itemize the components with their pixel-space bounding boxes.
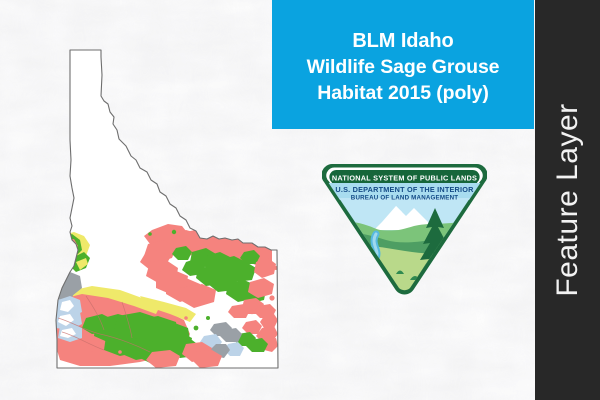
screenshot-root: BLM Idaho Wildlife Sage Grouse Habitat 2…: [0, 0, 600, 400]
seal-mid-text-line-1: U.S. DEPARTMENT OF THE INTERIOR: [335, 185, 474, 194]
feature-layer-label: Feature Layer: [551, 103, 585, 296]
blm-seal-graphic: NATIONAL SYSTEM OF PUBLIC LANDS U.S. DEP…: [322, 156, 487, 296]
feature-layer-sidebar[interactable]: Feature Layer: [535, 0, 600, 400]
banner-title-line-2: Wildlife Sage Grouse: [307, 54, 500, 80]
seal-top-text: NATIONAL SYSTEM OF PUBLIC LANDS: [332, 174, 477, 183]
blm-seal-logo: NATIONAL SYSTEM OF PUBLIC LANDS U.S. DEP…: [322, 156, 487, 296]
banner-title-line-1: BLM Idaho: [352, 28, 453, 54]
seal-mid-text-line-2: BUREAU OF LAND MANAGEMENT: [351, 195, 458, 202]
title-banner: BLM Idaho Wildlife Sage Grouse Habitat 2…: [272, 0, 534, 129]
banner-title-line-3: Habitat 2015 (poly): [317, 80, 488, 106]
